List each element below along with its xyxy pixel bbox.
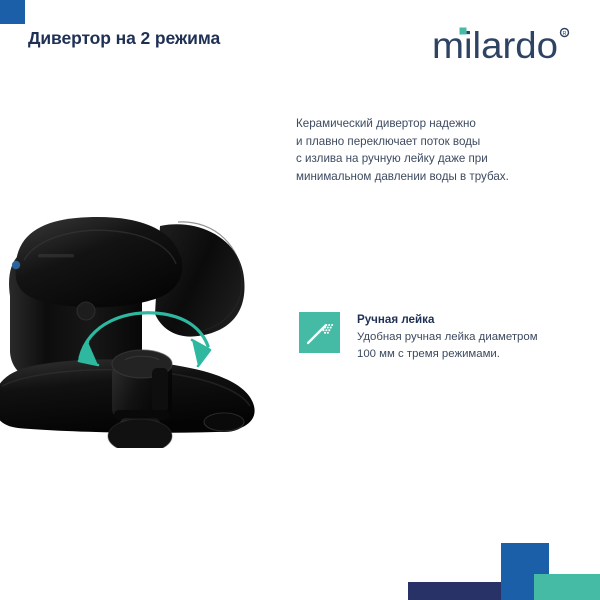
brand-logo: milardo R <box>432 26 572 70</box>
diverter-knob <box>112 350 172 420</box>
svg-text:R: R <box>563 31 567 37</box>
brand-i-dot <box>460 28 467 35</box>
feature-text-block: Ручная лейка Удобная ручная лейка диамет… <box>357 312 538 362</box>
lead-line-1: Керамический дивертор надежно <box>296 115 566 133</box>
decor-square-top-left <box>0 0 25 24</box>
page-title: Дивертор на 2 режима <box>28 28 220 49</box>
lead-line-3: с излива на ручную лейку даже при <box>296 150 566 168</box>
feature-description: Удобная ручная лейка диаметром 100 мм с … <box>357 329 538 362</box>
brand-wordmark-text: milardo <box>432 26 558 66</box>
feature-desc-line-1: Удобная ручная лейка диаметром <box>357 329 538 346</box>
feature-hand-shower: Ручная лейка Удобная ручная лейка диамет… <box>299 312 571 362</box>
lead-line-2: и плавно переключает поток воды <box>296 133 566 151</box>
lead-description: Керамический дивертор надежно и плавно п… <box>296 115 566 185</box>
product-infographic-card: Дивертор на 2 режима milardo R milardo <box>0 0 600 600</box>
feature-desc-line-2: 100 мм с тремя режимами. <box>357 346 538 363</box>
feature-title: Ручная лейка <box>357 313 538 326</box>
lead-line-4: минимальном давлении воды в трубах. <box>296 168 566 186</box>
product-photo-faucet <box>0 118 282 448</box>
decor-square-teal <box>534 574 600 600</box>
shower-head-icon <box>299 312 340 353</box>
